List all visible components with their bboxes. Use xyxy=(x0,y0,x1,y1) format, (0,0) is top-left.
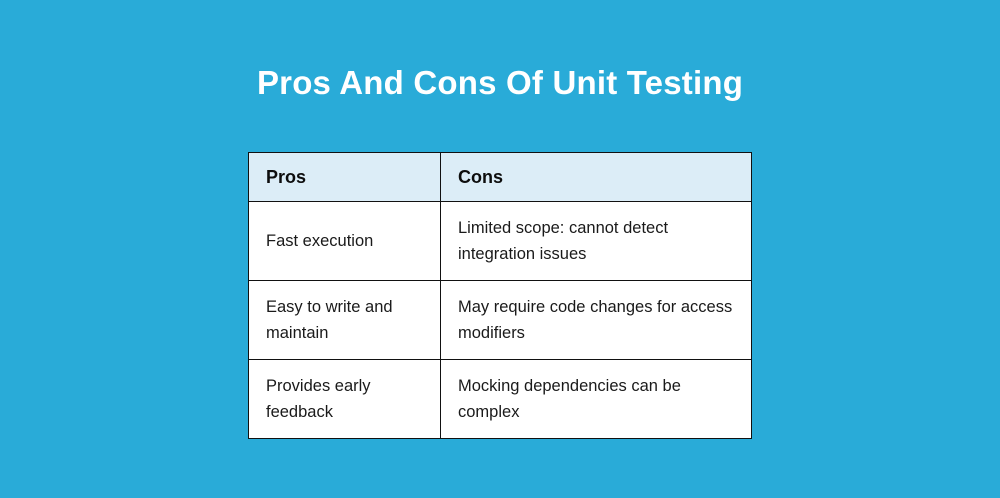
page-title: Pros And Cons Of Unit Testing xyxy=(0,60,1000,106)
table-row: Provides early feedback Mocking dependen… xyxy=(249,360,752,439)
pros-cons-table: Pros Cons Fast execution Limited scope: … xyxy=(248,152,752,439)
column-header-pros: Pros xyxy=(249,153,441,202)
table-header: Pros Cons xyxy=(249,153,752,202)
column-header-cons: Cons xyxy=(441,153,752,202)
cell-cons: Mocking dependencies can be complex xyxy=(441,360,752,439)
table-body: Fast execution Limited scope: cannot det… xyxy=(249,202,752,439)
cell-cons: Limited scope: cannot detect integration… xyxy=(441,202,752,281)
table-row: Fast execution Limited scope: cannot det… xyxy=(249,202,752,281)
cell-pros: Provides early feedback xyxy=(249,360,441,439)
table-header-row: Pros Cons xyxy=(249,153,752,202)
cell-cons: May require code changes for access modi… xyxy=(441,281,752,360)
cell-pros: Easy to write and maintain xyxy=(249,281,441,360)
cell-pros: Fast execution xyxy=(249,202,441,281)
page-root: Pros And Cons Of Unit Testing Pros Cons … xyxy=(0,0,1000,498)
table-row: Easy to write and maintain May require c… xyxy=(249,281,752,360)
